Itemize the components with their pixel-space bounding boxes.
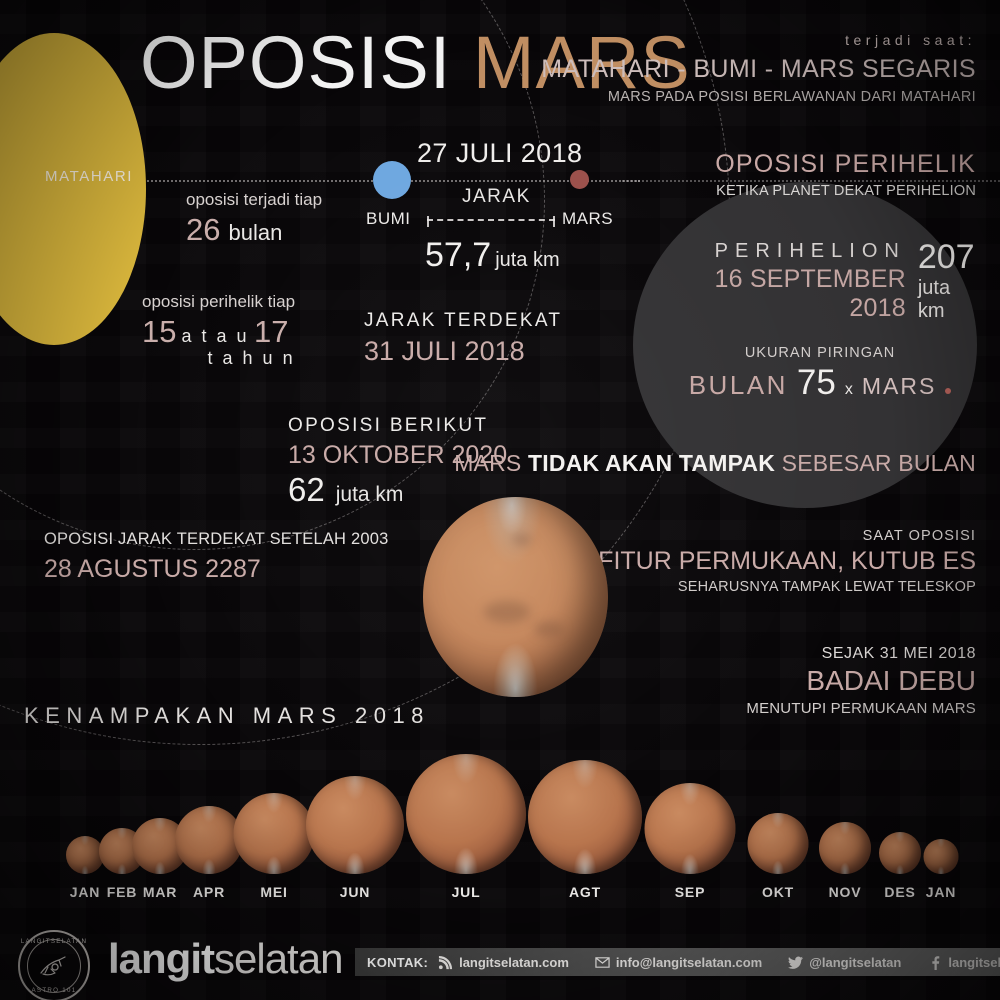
mars-globe-image bbox=[423, 497, 608, 697]
mars-disc-icon bbox=[924, 839, 959, 874]
contact-text: @langitselatan bbox=[809, 955, 901, 970]
mars-disc-icon bbox=[406, 754, 526, 874]
badai-debu-block: SEJAK 31 MEI 2018 BADAI DEBU MENUTUPI PE… bbox=[746, 645, 976, 717]
earth-dot-icon bbox=[373, 161, 411, 199]
alignment-detail: MARS PADA POSISI BERLAWANAN DARI MATAHAR… bbox=[541, 89, 976, 105]
fitur-sub: SEHARUSNYA TAMPAK LEWAT TELESKOP bbox=[598, 579, 976, 595]
kontak-label: KONTAK: bbox=[367, 955, 428, 970]
fitur-heading: SAAT OPOSISI bbox=[598, 528, 976, 544]
mars-size-timeline: JANFEBMARAPRMEIJUNJULAGTSEPOKTNOVDESJAN bbox=[0, 760, 1000, 900]
mars-month-label: APR bbox=[193, 884, 225, 900]
mars-month-label: JUN bbox=[340, 884, 370, 900]
jarak-label: JARAK bbox=[462, 186, 531, 208]
oposisi-berikut-block: OPOSISI BERIKUT 13 OKTOBER 2020 62 juta … bbox=[288, 415, 507, 509]
jarak-terdekat-heading: JARAK TERDEKAT bbox=[364, 310, 562, 332]
brand-wordmark: langitselatan bbox=[108, 938, 342, 980]
jarak-terdekat-block: JARAK TERDEKAT 31 JULI 2018 bbox=[364, 310, 562, 367]
alignment-statement: MATAHARI - BUMI - MARS SEGARIS bbox=[541, 55, 976, 84]
mars-month-label: JUL bbox=[452, 884, 481, 900]
jarak-value: 57,7 bbox=[425, 236, 491, 275]
oposisi-tiap-unit: bulan bbox=[228, 220, 282, 246]
oposisi-perihelik-heading: OPOSISI PERIHELIK bbox=[715, 150, 976, 179]
title-part-oposisi: OPOSISI bbox=[140, 21, 451, 104]
contact-item[interactable]: langitselatan.com bbox=[438, 955, 569, 970]
jarak-terdekat-date: 31 JULI 2018 bbox=[364, 336, 562, 367]
mars-month-label: OKT bbox=[762, 884, 794, 900]
terdekat-2287-heading: OPOSISI JARAK TERDEKAT SETELAH 2003 bbox=[44, 530, 388, 549]
brand-part-langit: langit bbox=[108, 935, 214, 982]
oposisi-perihelik-block: OPOSISI PERIHELIK KETIKA PLANET DEKAT PE… bbox=[715, 150, 976, 199]
oposisi-tiap-block: oposisi terjadi tiap 26 bulan bbox=[186, 190, 322, 248]
badai-sub: MENUTUPI PERMUKAAN MARS bbox=[746, 700, 976, 717]
envelope-icon bbox=[595, 955, 610, 970]
oposisi-berikut-heading: OPOSISI BERIKUT bbox=[288, 415, 507, 437]
contact-text: langitselatan.com bbox=[459, 955, 569, 970]
jarak-unit: juta km bbox=[495, 249, 559, 272]
terdekat-2287-block: OPOSISI JARAK TERDEKAT SETELAH 2003 28 A… bbox=[44, 530, 388, 584]
perihelion-distance-unit: juta km bbox=[918, 277, 980, 323]
contact-bar: KONTAK: langitselatan.cominfo@langitsela… bbox=[355, 948, 1000, 976]
seal-top-text: LANGITSELATAN bbox=[20, 938, 88, 945]
oposisi-tiap-caption: oposisi terjadi tiap bbox=[186, 190, 322, 210]
contact-item[interactable]: langitselatan bbox=[927, 955, 1000, 970]
brand-part-selatan: selatan bbox=[214, 935, 342, 982]
mars-dot-icon bbox=[570, 170, 589, 189]
jarak-measure-bar bbox=[427, 219, 555, 221]
perihelik-tiap-n2: 17 bbox=[254, 314, 288, 350]
oposisi-berikut-value: 62 bbox=[288, 471, 325, 509]
fitur-main: FITUR PERMUKAAN, KUTUB ES bbox=[598, 547, 976, 576]
mars-disc-icon bbox=[528, 760, 642, 874]
earth-label: BUMI bbox=[366, 209, 411, 229]
tidak-tampak-statement: MARS TIDAK AKAN TAMPAK SEBESAR BULAN bbox=[454, 450, 976, 477]
facebook-icon bbox=[927, 955, 942, 970]
ukuran-times: x bbox=[845, 381, 853, 399]
perihelik-tiap-n1: 15 bbox=[142, 314, 176, 350]
mars-size-dot-icon bbox=[945, 388, 951, 394]
oposisi-berikut-unit: juta km bbox=[336, 483, 404, 507]
ukuran-mars-label: MARS bbox=[862, 373, 936, 400]
terjadi-saat-block: terjadi saat: MATAHARI - BUMI - MARS SEG… bbox=[541, 32, 976, 105]
mars-month-label: JAN bbox=[926, 884, 956, 900]
contact-item[interactable]: @langitselatan bbox=[788, 955, 901, 970]
mars-month-label: MEI bbox=[260, 884, 287, 900]
mars-disc-icon bbox=[306, 776, 404, 874]
terdekat-2287-date: 28 AGUSTUS 2287 bbox=[44, 555, 388, 584]
mars-month-item: JUL bbox=[416, 760, 516, 900]
perihelion-distance-value: 207 bbox=[918, 240, 980, 274]
perihelik-tiap-atau: a t a u bbox=[181, 326, 249, 347]
oposisi-tiap-number: 26 bbox=[186, 212, 220, 248]
jarak-value-block: 57,7 juta km bbox=[425, 236, 560, 275]
oposisi-berikut-date: 13 OKTOBER 2020 bbox=[288, 441, 507, 470]
sun-label: MATAHARI bbox=[45, 168, 133, 185]
tampak-post: SEBESAR BULAN bbox=[775, 450, 976, 476]
contact-item[interactable]: info@langitselatan.com bbox=[595, 955, 762, 970]
mars-month-item: JAN bbox=[891, 760, 991, 900]
seal-bottom-text: ASTRO 101 bbox=[20, 987, 88, 994]
mars-label: MARS bbox=[562, 209, 613, 229]
contact-text: info@langitselatan.com bbox=[616, 955, 762, 970]
terjadi-saat-label: terjadi saat: bbox=[541, 32, 976, 48]
kenampakan-title: KENAMPAKAN MARS 2018 bbox=[24, 703, 430, 729]
perihelion-block: PERIHELION 16 SEPTEMBER 2018 207 juta km bbox=[660, 240, 980, 323]
ukuran-piringan-block: UKURAN PIRINGAN BULAN 75 x MARS bbox=[660, 345, 980, 403]
perihelik-tiap-caption: oposisi perihelik tiap bbox=[142, 292, 295, 312]
mars-month-item: AGT bbox=[535, 760, 635, 900]
mars-month-item: JUN bbox=[305, 760, 405, 900]
perihelik-tiap-block: oposisi perihelik tiap 15 a t a u 17 t a… bbox=[142, 292, 295, 369]
footer-bar: LANGITSELATAN ASTRO 101 langitselatan KO… bbox=[0, 918, 1000, 1000]
badai-heading: SEJAK 31 MEI 2018 bbox=[746, 645, 976, 663]
perihelion-word: PERIHELION bbox=[660, 240, 906, 263]
fitur-permukaan-block: SAAT OPOSISI FITUR PERMUKAAN, KUTUB ES S… bbox=[598, 528, 976, 595]
perihelion-date: 16 SEPTEMBER 2018 bbox=[660, 265, 906, 323]
tampak-bold: TIDAK AKAN TAMPAK bbox=[528, 450, 775, 476]
archer-figure-icon bbox=[37, 953, 71, 979]
mars-month-label: SEP bbox=[675, 884, 705, 900]
mars-month-item: SEP bbox=[640, 760, 740, 900]
mars-month-label: AGT bbox=[569, 884, 601, 900]
opposition-date: 27 JULI 2018 bbox=[417, 138, 582, 169]
mars-disc-icon bbox=[234, 793, 315, 874]
contact-text: langitselatan bbox=[948, 955, 1000, 970]
perihelik-tiap-unit: t a h u n bbox=[142, 348, 295, 369]
langitselatan-seal-icon: LANGITSELATAN ASTRO 101 bbox=[18, 930, 90, 1000]
oposisi-perihelik-sub: KETIKA PLANET DEKAT PERIHELION bbox=[715, 183, 976, 199]
rss-icon bbox=[438, 955, 453, 970]
infographic-poster: MATAHARI OPOSISI MARS terjadi saat: MATA… bbox=[0, 0, 1000, 1000]
mars-disc-icon bbox=[645, 783, 736, 874]
twitter-icon bbox=[788, 955, 803, 970]
ukuran-bulan-label: BULAN bbox=[689, 370, 788, 401]
badai-main: BADAI DEBU bbox=[746, 665, 976, 697]
ukuran-heading: UKURAN PIRINGAN bbox=[660, 345, 980, 361]
ukuran-factor: 75 bbox=[797, 363, 836, 403]
